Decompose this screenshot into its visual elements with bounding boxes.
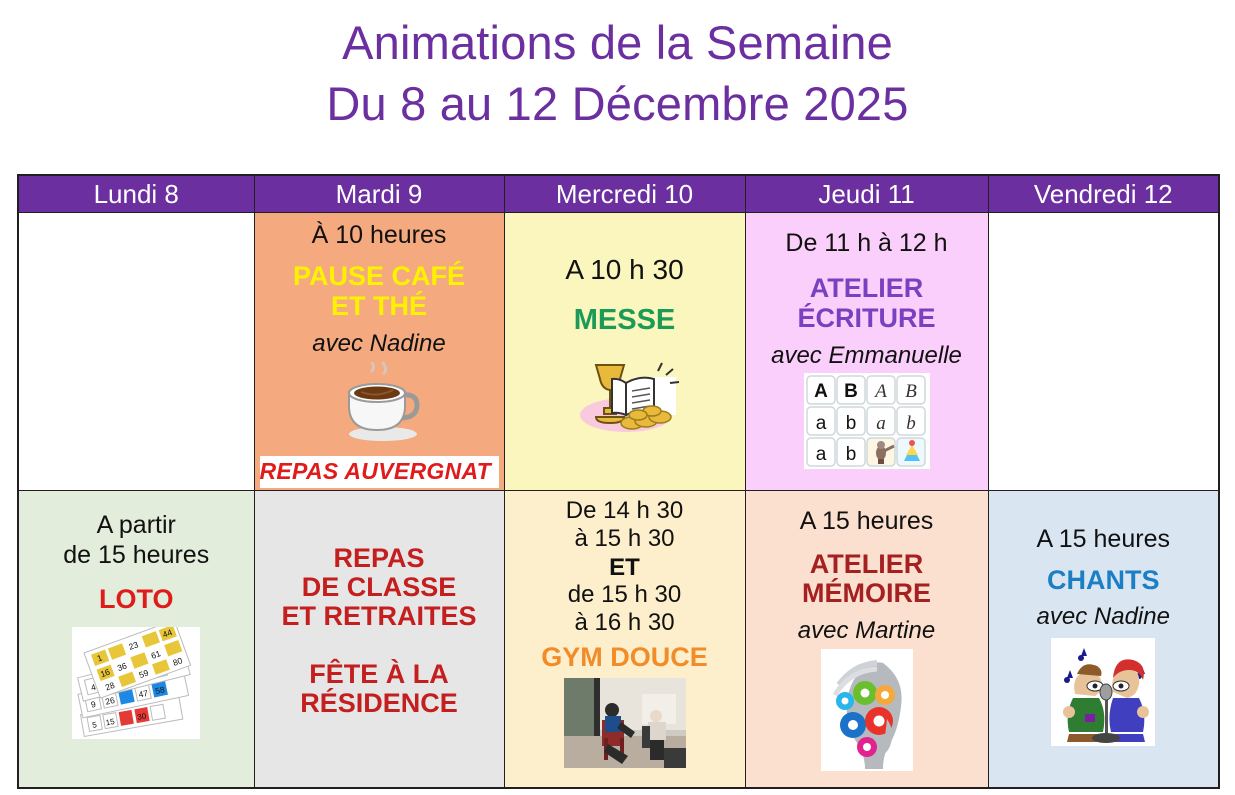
- brain-gears-icon: [821, 649, 913, 776]
- column-header-vendredi: Vendredi 12: [988, 175, 1219, 213]
- cell-jeudi-afternoon: A 15 heures ATELIER MÉMOIRE avec Martine: [745, 491, 988, 788]
- column-header-mercredi: Mercredi 10: [504, 175, 745, 213]
- cell-with: avec Emmanuelle: [771, 342, 962, 370]
- cell-activity-line-2: DE CLASSE: [302, 572, 457, 603]
- singers-icon: [1051, 638, 1155, 751]
- cell-activity-line-1: PAUSE CAFÉ: [293, 261, 465, 292]
- cell-time: De 14 h 30 à 15 h 30: [566, 497, 683, 554]
- cell-time: A 15 heures: [800, 507, 933, 537]
- svg-text:b: b: [845, 444, 856, 465]
- cell-lundi-morning: [18, 213, 254, 491]
- cell-activity-line-1: GYM DOUCE: [541, 642, 708, 673]
- svg-text:A: A: [873, 381, 887, 402]
- cell-banner: REPAS AUVERGNAT: [260, 456, 499, 488]
- cell-activity-line-3: ET RETRAITES: [281, 601, 476, 632]
- svg-text:b: b: [845, 413, 856, 434]
- cell-activity-line-1: ATELIER: [810, 549, 924, 580]
- cell-with: avec Nadine: [1037, 603, 1170, 631]
- svg-text:A: A: [814, 381, 828, 402]
- cell-activity-line-2: MÉMOIRE: [802, 578, 931, 609]
- page-title: Animations de la Semaine Du 8 au 12 Déce…: [0, 0, 1235, 134]
- page-title-line-2: Du 8 au 12 Décembre 2025: [0, 73, 1235, 134]
- page-title-line-1: Animations de la Semaine: [0, 12, 1235, 73]
- chalice-bible-icon: [566, 353, 684, 442]
- cell-activity-line-6: RÉSIDENCE: [300, 688, 458, 719]
- svg-text:a: a: [815, 413, 826, 434]
- cell-mercredi-afternoon: De 14 h 30 à 15 h 30 ET de 15 h 30 à 16 …: [504, 491, 745, 788]
- cell-activity-line-2: ET THÉ: [331, 291, 427, 322]
- letter-cards-icon: A B a b a b AB ab: [804, 373, 930, 474]
- svg-text:B: B: [905, 381, 917, 402]
- cell-lundi-afternoon: A partir de 15 heures LOTO: [18, 491, 254, 788]
- svg-text:a: a: [815, 444, 826, 465]
- cell-activity-line-1: MESSE: [574, 304, 676, 337]
- coffee-cup-icon: [331, 362, 427, 449]
- cell-activity-line-2: ÉCRITURE: [797, 303, 935, 334]
- weekly-activities-poster: Animations de la Semaine Du 8 au 12 Déce…: [0, 0, 1235, 795]
- cell-time-separator: ET: [609, 554, 640, 581]
- table-row: À 10 heures PAUSE CAFÉ ET THÉ avec Nadin…: [18, 213, 1219, 491]
- cell-mardi-morning: À 10 heures PAUSE CAFÉ ET THÉ avec Nadin…: [254, 213, 504, 491]
- cell-activity-line-1: CHANTS: [1047, 565, 1160, 596]
- svg-text:a: a: [876, 413, 886, 434]
- cell-time: A 15 heures: [1037, 525, 1170, 555]
- gym-photo-icon: [564, 678, 686, 773]
- cell-time: A partir de 15 heures: [63, 511, 209, 570]
- cell-activity-line-1: REPAS: [333, 543, 424, 574]
- cell-activity-line-1: LOTO: [99, 584, 174, 615]
- cell-time: À 10 heures: [312, 221, 447, 251]
- table-row: A partir de 15 heures LOTO: [18, 491, 1219, 788]
- svg-text:b: b: [906, 413, 916, 434]
- column-header-mardi: Mardi 9: [254, 175, 504, 213]
- cell-time-2: de 15 h 30 à 16 h 30: [568, 581, 681, 638]
- cell-time: De 11 h à 12 h: [785, 229, 947, 259]
- cell-with: avec Martine: [798, 617, 935, 645]
- table-header-row: Lundi 8 Mardi 9 Mercredi 10 Jeudi 11 Ven…: [18, 175, 1219, 213]
- cell-time: A 10 h 30: [565, 253, 683, 286]
- weekly-schedule-table: Lundi 8 Mardi 9 Mercredi 10 Jeudi 11 Ven…: [17, 174, 1220, 789]
- cell-jeudi-morning: De 11 h à 12 h ATELIER ÉCRITURE avec Emm…: [745, 213, 988, 491]
- bingo-cards-icon: 51530: [72, 627, 200, 744]
- column-header-jeudi: Jeudi 11: [745, 175, 988, 213]
- cell-vendredi-morning: [988, 213, 1219, 491]
- cell-activity-line-5: FÊTE À LA: [309, 659, 449, 690]
- cell-activity-line-1: ATELIER: [810, 273, 924, 304]
- cell-mercredi-morning: A 10 h 30 MESSE: [504, 213, 745, 491]
- svg-text:B: B: [844, 381, 858, 402]
- cell-vendredi-afternoon: A 15 heures CHANTS avec Nadine: [988, 491, 1219, 788]
- cell-mardi-afternoon: REPAS DE CLASSE ET RETRAITES FÊTE À LA R…: [254, 491, 504, 788]
- column-header-lundi: Lundi 8: [18, 175, 254, 213]
- cell-with: avec Nadine: [312, 330, 445, 358]
